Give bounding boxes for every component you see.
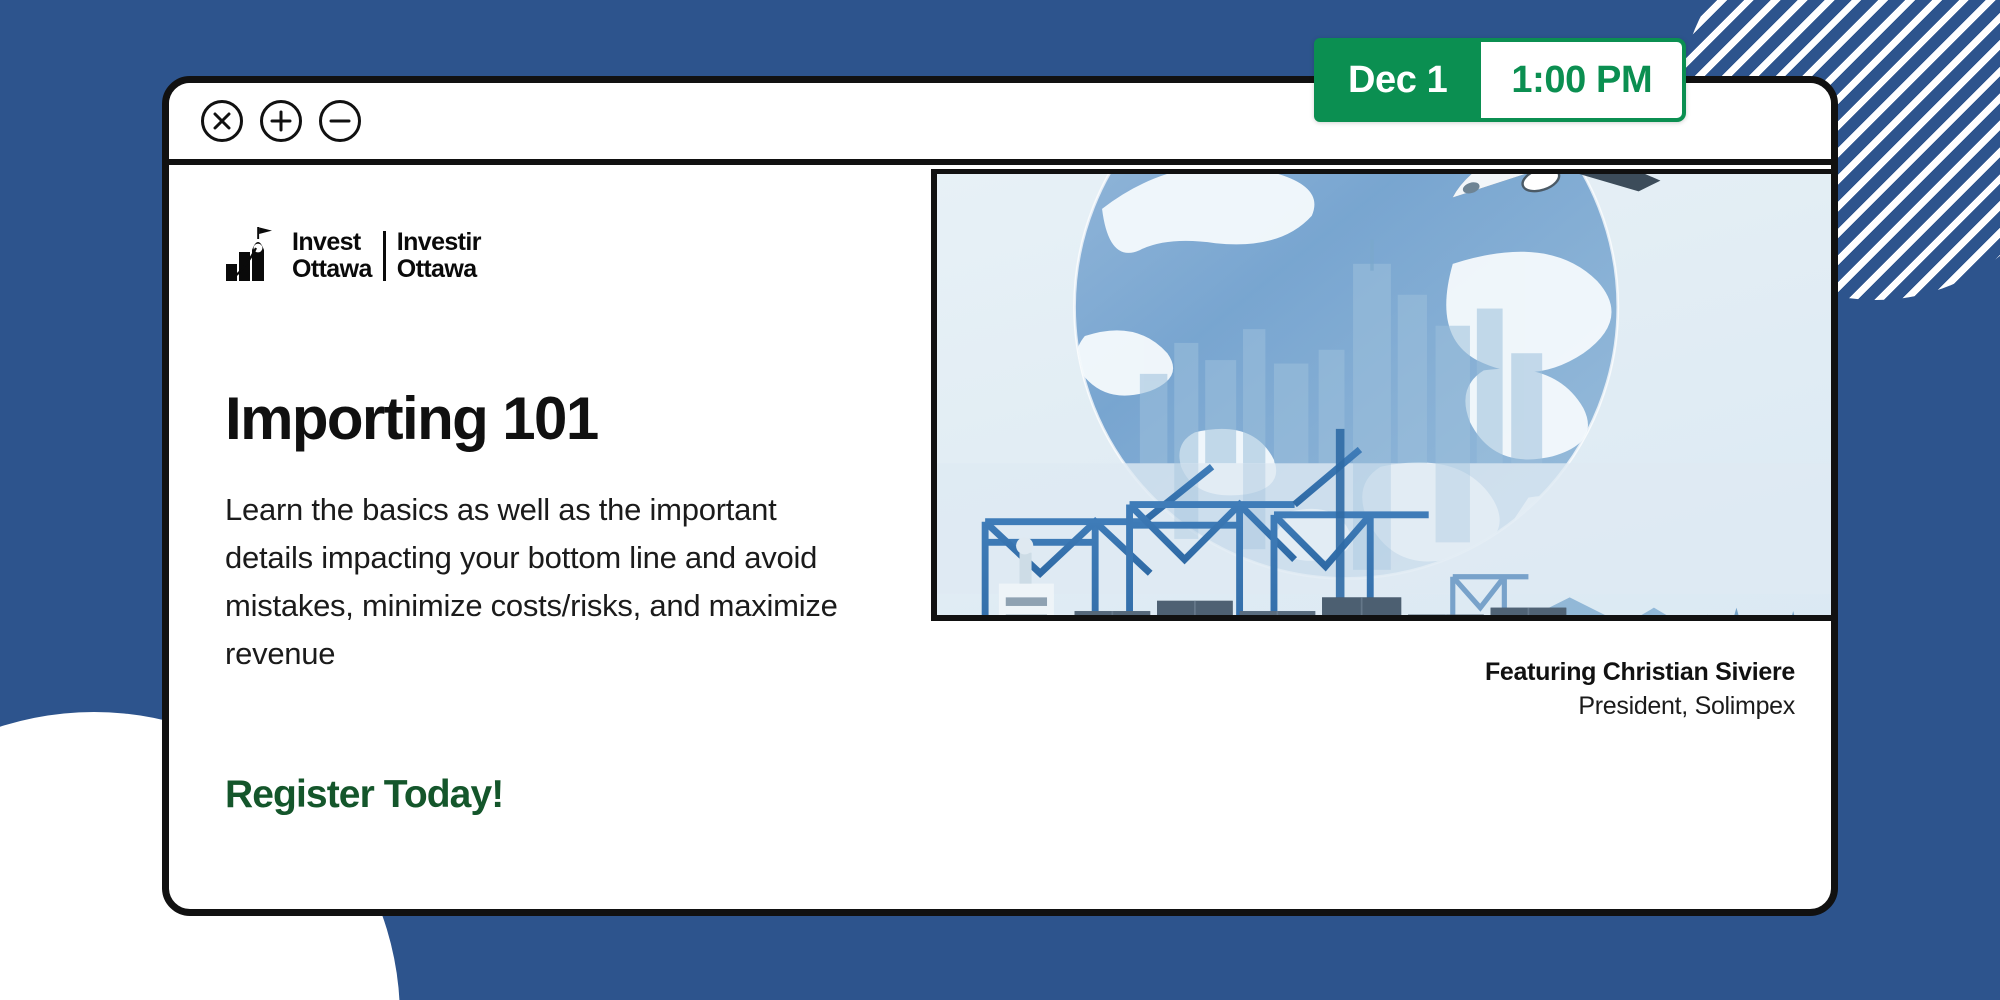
browser-window-card: Invest Ottawa Investir Ottawa Importing … xyxy=(162,76,1838,916)
invest-ottawa-logo[interactable]: Invest Ottawa Investir Ottawa xyxy=(225,227,931,285)
logo-wordmarks: Invest Ottawa Investir Ottawa xyxy=(292,230,481,282)
logo-english-line1: Invest xyxy=(292,230,372,255)
minus-icon[interactable] xyxy=(319,100,361,142)
close-icon[interactable] xyxy=(201,100,243,142)
logo-wordmark-french: Investir Ottawa xyxy=(397,230,481,282)
speaker-role: President, Solimpex xyxy=(931,689,1795,723)
logo-english-line2: Ottawa xyxy=(292,257,372,282)
hero-image xyxy=(931,169,1831,621)
page-title: Importing 101 xyxy=(225,389,931,449)
logo-divider xyxy=(383,231,386,281)
event-description: Learn the basics as well as the importan… xyxy=(225,486,865,678)
badge-date: Dec 1 xyxy=(1314,38,1481,122)
register-today-link[interactable]: Register Today! xyxy=(225,773,503,817)
plus-icon[interactable] xyxy=(260,100,302,142)
logo-french-line1: Investir xyxy=(397,230,481,255)
logo-wordmark-english: Invest Ottawa xyxy=(292,230,372,282)
schedule-badge: Dec 1 1:00 PM xyxy=(1314,38,1686,122)
parliament-tower-icon xyxy=(225,226,283,287)
speaker-credit: Featuring Christian Siviere President, S… xyxy=(931,621,1831,723)
content-pane: Invest Ottawa Investir Ottawa Importing … xyxy=(169,165,931,909)
badge-time: 1:00 PM xyxy=(1481,38,1686,122)
media-pane: Featuring Christian Siviere President, S… xyxy=(931,165,1831,909)
logo-french-line2: Ottawa xyxy=(397,257,481,282)
card-body: Invest Ottawa Investir Ottawa Importing … xyxy=(169,165,1831,909)
speaker-name: Featuring Christian Siviere xyxy=(931,655,1795,689)
